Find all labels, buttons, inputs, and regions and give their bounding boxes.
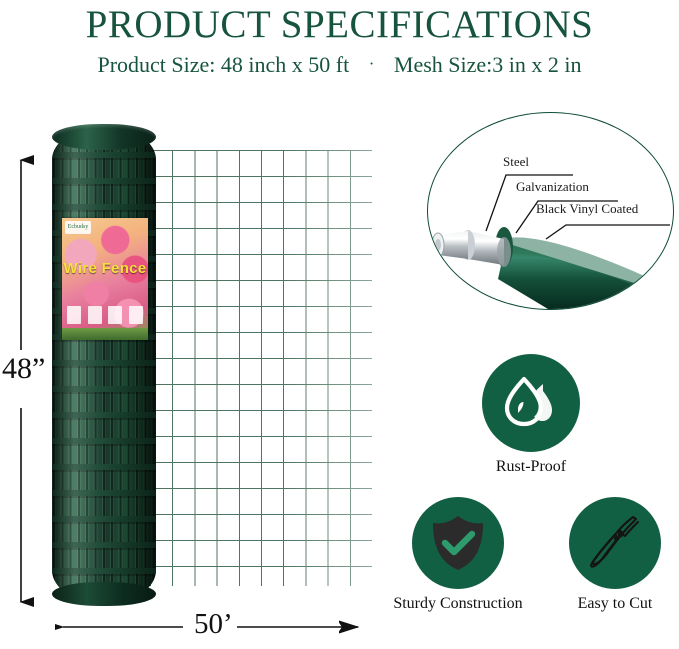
height-dimension-label: 48” (2, 352, 45, 386)
feature-label: Easy to Cut (551, 595, 679, 613)
roll-body: Ecbudsy Wire Fence (52, 126, 156, 604)
water-drop-icon (482, 354, 580, 452)
product-label-title: Wire Fence (62, 260, 148, 277)
feature-easy-to-cut: Easy to Cut (551, 497, 679, 613)
mesh-size-text: Mesh Size:3 in x 2 in (394, 52, 582, 77)
label-chip (67, 306, 81, 324)
feature-sturdy-construction: Sturdy Construction (378, 497, 538, 613)
label-info-chips (64, 304, 146, 326)
page-title: PRODUCT SPECIFICATIONS (0, 2, 679, 47)
feature-rust-proof: Rust-Proof (471, 354, 591, 476)
pliers-icon (569, 497, 661, 589)
callout-label-galvanization: Galvanization (516, 179, 589, 195)
roll-shading (52, 126, 156, 604)
label-chip (129, 306, 143, 324)
callout-label-steel: Steel (503, 154, 529, 170)
wire-fence-roll: Ecbudsy Wire Fence (52, 126, 156, 604)
fence-mesh-grid (150, 150, 372, 586)
spec-subtitle: Product Size: 48 inch x 50 ft · Mesh Siz… (0, 52, 679, 78)
label-chip (108, 306, 122, 324)
product-size-text: Product Size: 48 inch x 50 ft (97, 52, 349, 77)
spec-separator: · (355, 54, 389, 73)
width-dimension-label: 50’ (194, 608, 233, 641)
label-grass-band (62, 328, 148, 340)
roll-bottom-cap (52, 582, 156, 606)
brand-logo: Ecbudsy (65, 221, 91, 234)
callout-label-black-vinyl-coated: Black Vinyl Coated (536, 201, 638, 217)
roll-top-cap (52, 124, 156, 150)
feature-label: Rust-Proof (471, 458, 591, 476)
infographic-canvas: PRODUCT SPECIFICATIONS Product Size: 48 … (0, 0, 679, 649)
shield-check-icon (412, 497, 504, 589)
label-chip (88, 306, 102, 324)
feature-label: Sturdy Construction (378, 595, 538, 613)
product-label: Ecbudsy Wire Fence (62, 218, 148, 340)
